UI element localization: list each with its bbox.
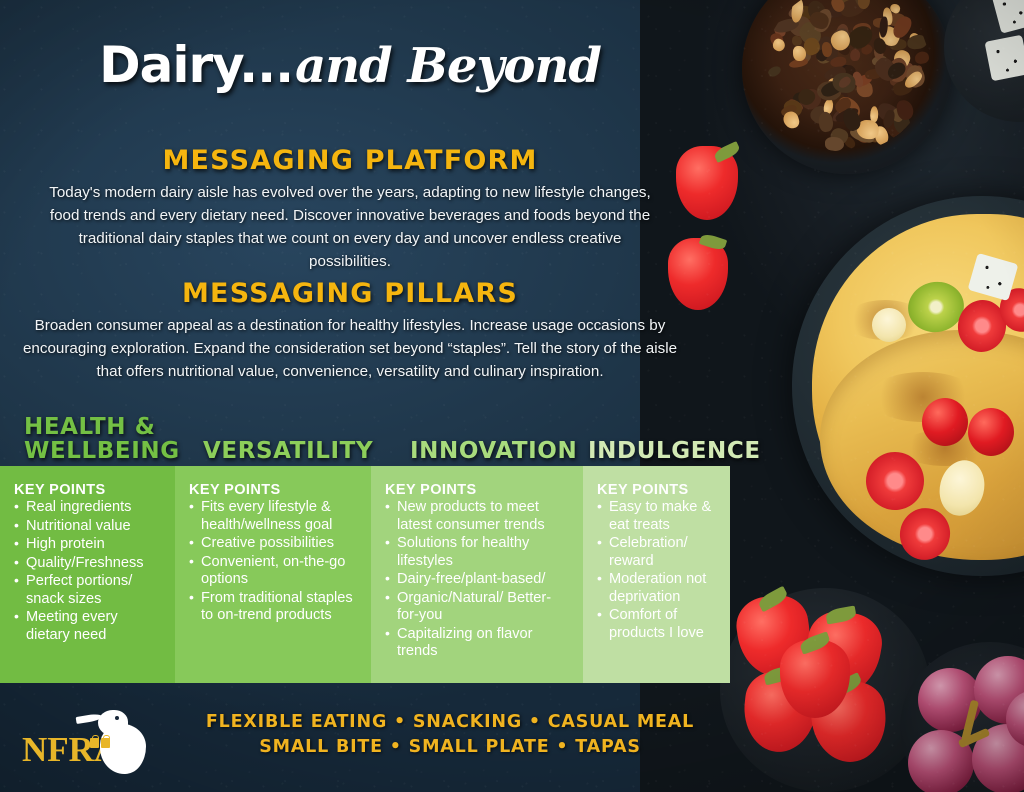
key-point-item: Creative possibilities — [189, 535, 359, 553]
key-point-item: Meeting every dietary need — [14, 609, 163, 644]
key-point-item: Nutritional value — [14, 518, 163, 536]
key-points-list: New products to meet latest consumer tre… — [385, 499, 571, 661]
nfra-logo: NFRA — [22, 706, 154, 768]
pillar-title-indulgence: INDULGENCE — [588, 440, 761, 464]
poster-content: Dairy...and Beyond MESSAGING PLATFORM To… — [0, 0, 1024, 792]
key-points-list: Fits every lifestyle & health/wellness g… — [189, 499, 359, 625]
pillar-panel-indulgence: KEY POINTS Easy to make & eat treatsCele… — [583, 466, 730, 683]
key-point-item: Moderation not deprivation — [597, 571, 718, 606]
title-script: and Beyond — [295, 38, 601, 94]
pillar-titles-row: HEALTH & WELLBEING VERSATILITY INNOVATIO… — [0, 406, 760, 464]
key-point-item: High protein — [14, 536, 163, 554]
pillar-title-versatility: VERSATILITY — [203, 440, 373, 464]
pillar-title-innovation: INNOVATION — [410, 440, 577, 464]
key-point-item: Real ingredients — [14, 499, 163, 517]
poster-title: Dairy...and Beyond — [0, 36, 700, 94]
shopping-bags-icon — [90, 734, 112, 750]
messaging-pillars-heading: MESSAGING PILLARS — [0, 278, 700, 309]
key-point-item: Celebration/ reward — [597, 535, 718, 570]
key-point-item: Capitalizing on flavor trends — [385, 626, 571, 661]
pillar-panel-health-wellbeing: KEY POINTS Real ingredientsNutritional v… — [0, 466, 175, 683]
key-point-item: Perfect portions/ snack sizes — [14, 573, 163, 608]
key-points-list: Easy to make & eat treatsCelebration/ re… — [597, 499, 718, 642]
tagline-line-2: SMALL BITE • SMALL PLATE • TAPAS — [259, 737, 641, 757]
key-points-label: KEY POINTS — [14, 482, 163, 498]
pillar-title-line1: HEALTH & — [24, 414, 155, 440]
penguin-head-icon — [98, 710, 128, 736]
key-points-label: KEY POINTS — [597, 482, 718, 498]
pillar-panel-innovation: KEY POINTS New products to meet latest c… — [371, 466, 583, 683]
key-point-item: Convenient, on-the-go options — [189, 554, 359, 589]
key-point-item: Dairy-free/plant-based/ — [385, 571, 571, 589]
poster-footer: NFRA FLEXIBLE EATING • SNACKING • CASUAL… — [0, 690, 760, 792]
messaging-platform-body: Today's modern dairy aisle has evolved o… — [36, 181, 664, 273]
key-point-item: From traditional staples to on-trend pro… — [189, 590, 359, 625]
pillar-panel-versatility: KEY POINTS Fits every lifestyle & health… — [175, 466, 371, 683]
pillar-panels-row: KEY POINTS Real ingredientsNutritional v… — [0, 466, 730, 683]
key-point-item: Organic/Natural/ Better-for-you — [385, 590, 571, 625]
key-point-item: Easy to make & eat treats — [597, 499, 718, 534]
pillar-title-health-wellbeing: HEALTH & WELLBEING — [24, 416, 180, 464]
penguin-eye-icon — [115, 716, 119, 720]
pillar-title-line2: WELLBEING — [24, 438, 180, 464]
title-main: Dairy... — [99, 36, 293, 94]
key-points-label: KEY POINTS — [385, 482, 571, 498]
key-points-label: KEY POINTS — [189, 482, 359, 498]
key-points-list: Real ingredientsNutritional valueHigh pr… — [14, 499, 163, 644]
key-point-item: Solutions for healthy lifestyles — [385, 535, 571, 570]
poster-canvas: Dairy...and Beyond MESSAGING PLATFORM To… — [0, 0, 1024, 792]
messaging-pillars-body: Broaden consumer appeal as a destination… — [22, 314, 678, 383]
key-point-item: Comfort of products I love — [597, 607, 718, 642]
footer-tagline: FLEXIBLE EATING • SNACKING • CASUAL MEAL… — [170, 710, 730, 760]
key-point-item: New products to meet latest consumer tre… — [385, 499, 571, 534]
key-point-item: Fits every lifestyle & health/wellness g… — [189, 499, 359, 534]
messaging-platform-heading: MESSAGING PLATFORM — [0, 145, 700, 176]
tagline-line-1: FLEXIBLE EATING • SNACKING • CASUAL MEAL — [206, 712, 694, 732]
key-point-item: Quality/Freshness — [14, 555, 163, 573]
